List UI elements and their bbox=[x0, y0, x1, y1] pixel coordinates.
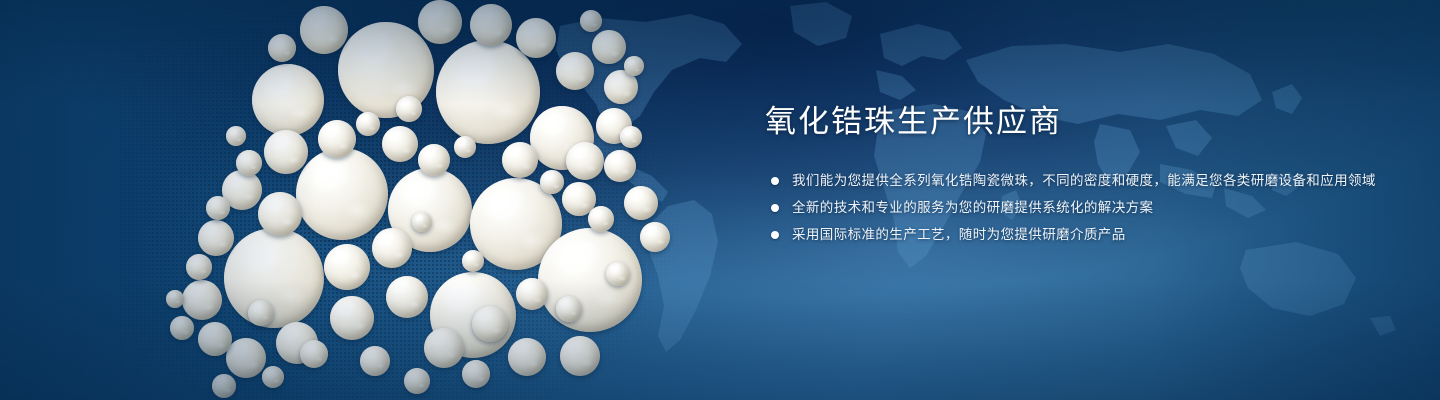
bullet-text: 我们能为您提供全系列氧化锆陶瓷微珠，不同的密度和硬度，能满足您各类研磨设备和应用… bbox=[792, 173, 1376, 188]
bullet-item: 全新的技术和专业的服务为您的研磨提供系统化的解决方案 bbox=[765, 197, 1385, 219]
hero-banner: 氧化锆珠生产供应商 我们能为您提供全系列氧化锆陶瓷微珠，不同的密度和硬度，能满足… bbox=[0, 0, 1440, 400]
banner-headline: 氧化锆珠生产供应商 bbox=[765, 100, 1385, 144]
bullet-item: 采用国际标准的生产工艺，随时为您提供研磨介质产品 bbox=[765, 224, 1385, 246]
bullet-dot-icon bbox=[771, 231, 779, 239]
bullet-dot-icon bbox=[771, 177, 779, 185]
bullet-text: 采用国际标准的生产工艺，随时为您提供研磨介质产品 bbox=[792, 227, 1126, 242]
banner-content: 氧化锆珠生产供应商 我们能为您提供全系列氧化锆陶瓷微珠，不同的密度和硬度，能满足… bbox=[765, 100, 1385, 246]
bullet-dot-icon bbox=[771, 204, 779, 212]
banner-bullet-list: 我们能为您提供全系列氧化锆陶瓷微珠，不同的密度和硬度，能满足您各类研磨设备和应用… bbox=[765, 170, 1385, 246]
bullet-text: 全新的技术和专业的服务为您的研磨提供系统化的解决方案 bbox=[792, 200, 1153, 215]
bullet-item: 我们能为您提供全系列氧化锆陶瓷微珠，不同的密度和硬度，能满足您各类研磨设备和应用… bbox=[765, 170, 1385, 192]
